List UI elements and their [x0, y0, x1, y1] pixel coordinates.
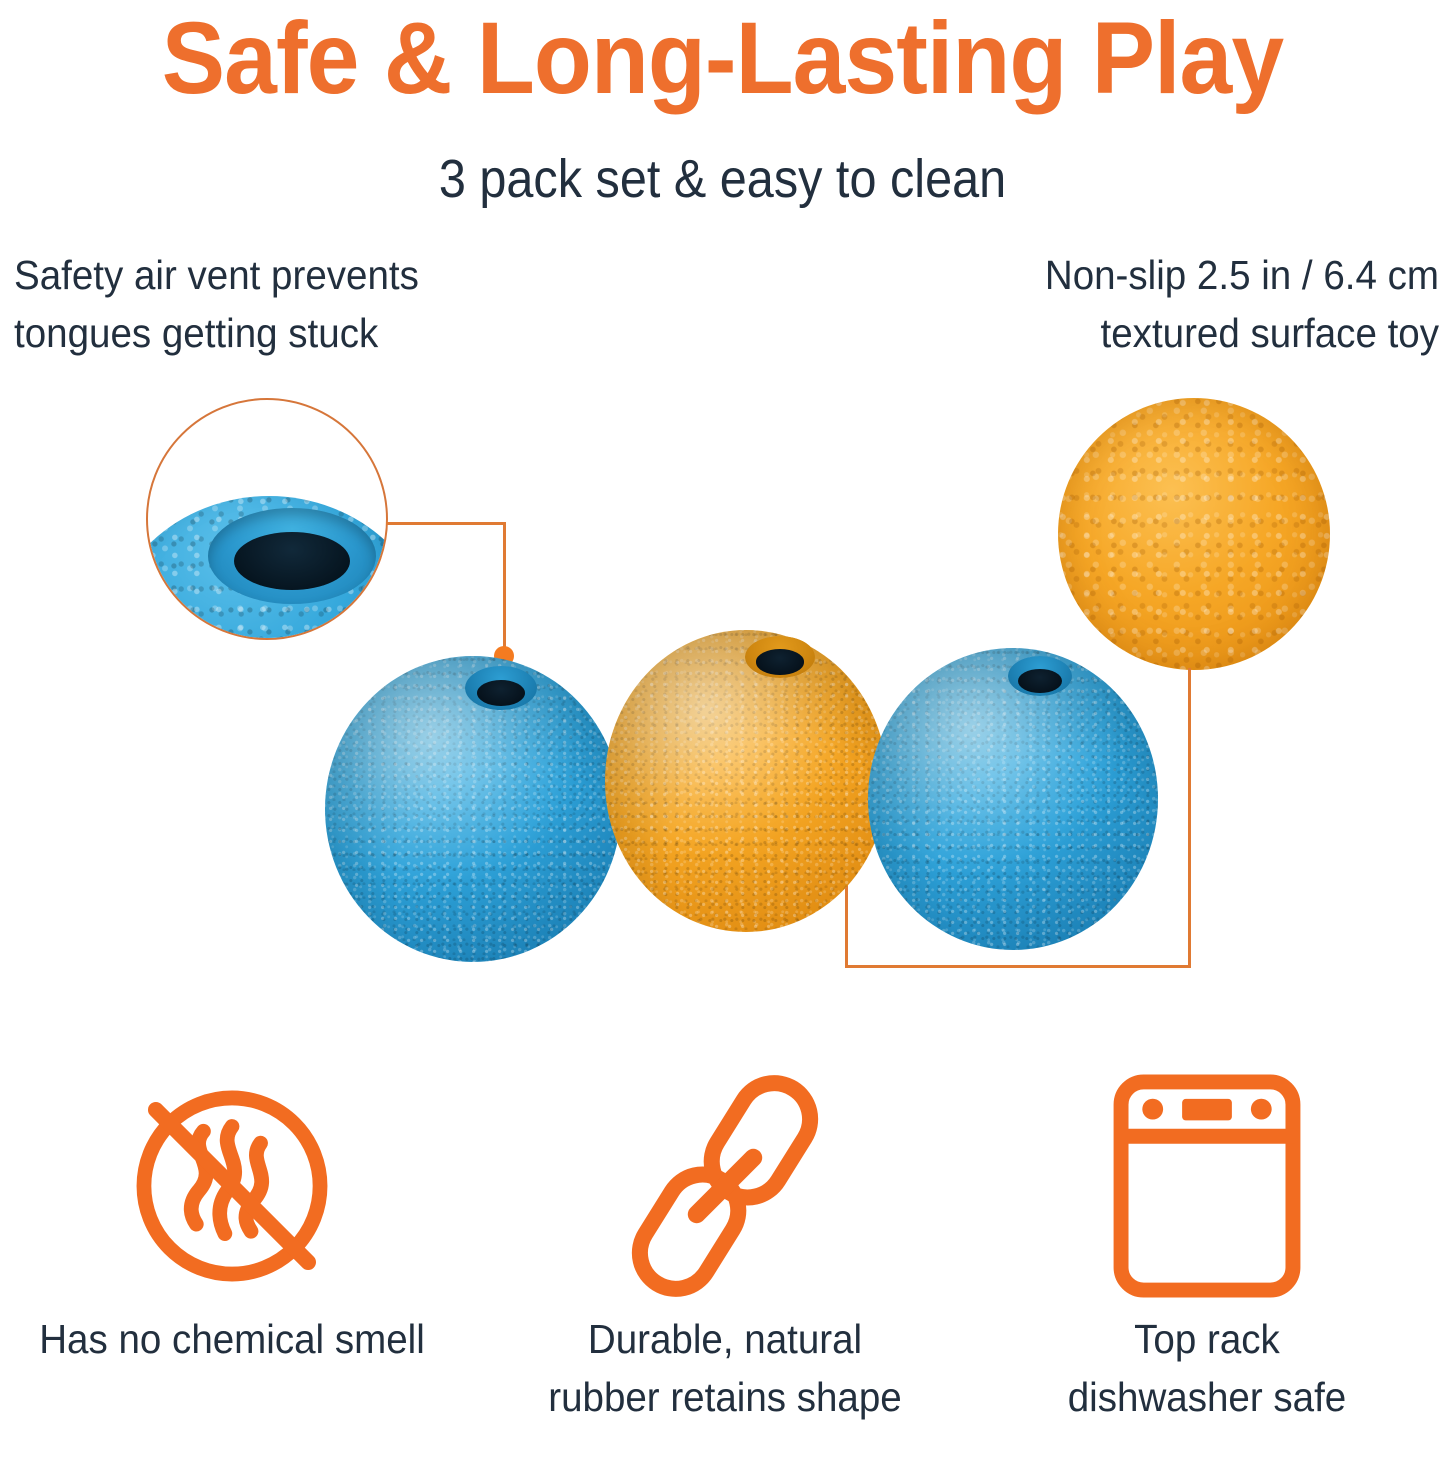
callout-label-air-vent: Safety air vent prevents tongues getting… [14, 246, 616, 362]
page-subtitle: 3 pack set & easy to clean [72, 148, 1373, 210]
leader-line-texture-horizontal [845, 965, 1191, 968]
ball-surface [868, 648, 1158, 950]
callout-right-line-2: textured surface toy [856, 304, 1439, 362]
callout-label-textured-surface: Non-slip 2.5 in / 6.4 cm textured surfac… [856, 246, 1439, 362]
feature-no-chemical-smell: Has no chemical smell [0, 1062, 467, 1368]
feature-1-line-1: Durable, natural [504, 1310, 946, 1368]
leader-line-air-vent-vertical [503, 522, 506, 656]
ball-surface [605, 630, 887, 932]
leader-line-air-vent-horizontal [386, 522, 506, 525]
vent-opening [756, 649, 804, 674]
ball-orange-middle [605, 630, 887, 932]
callout-right-line-1: Non-slip 2.5 in / 6.4 cm [856, 246, 1439, 304]
feature-label-dishwasher-safe: Top rack dishwasher safe [986, 1310, 1428, 1426]
feature-row: Has no chemical smell Durable, natural r… [0, 1062, 1445, 1459]
callout-left-line-1: Safety air vent prevents [14, 246, 616, 304]
chain-link-icon [490, 1062, 960, 1310]
ball-blue-left [325, 656, 621, 962]
air-vent-hole [745, 636, 815, 678]
dishwasher-icon [972, 1062, 1442, 1310]
air-vent-hole [1008, 656, 1072, 696]
callout-left-line-2: tongues getting stuck [14, 304, 616, 362]
page-title: Safe & Long-Lasting Play [51, 4, 1395, 112]
feature-0-line-1: Has no chemical smell [11, 1310, 453, 1368]
air-vent-hole [465, 666, 537, 710]
feature-2-line-2: dishwasher safe [986, 1368, 1428, 1426]
textured-surface-closeup-circle [1058, 398, 1330, 670]
product-photo-area [0, 380, 1445, 1020]
infographic-canvas: Safe & Long-Lasting Play 3 pack set & ea… [0, 0, 1445, 1459]
ball-blue-right [868, 648, 1158, 950]
feature-1-line-2: rubber retains shape [504, 1368, 946, 1426]
feature-durable-rubber: Durable, natural rubber retains shape [490, 1062, 960, 1426]
leader-line-texture-vertical-right [1188, 668, 1191, 968]
feature-dishwasher-safe: Top rack dishwasher safe [972, 1062, 1442, 1426]
feature-label-durable-rubber: Durable, natural rubber retains shape [504, 1310, 946, 1426]
no-smell-icon [0, 1062, 467, 1310]
closeup-vent-hole [234, 532, 350, 590]
air-vent-closeup-circle [146, 398, 388, 640]
feature-label-no-chemical-smell: Has no chemical smell [11, 1310, 453, 1368]
vent-opening [1018, 669, 1062, 693]
feature-2-line-1: Top rack [986, 1310, 1428, 1368]
